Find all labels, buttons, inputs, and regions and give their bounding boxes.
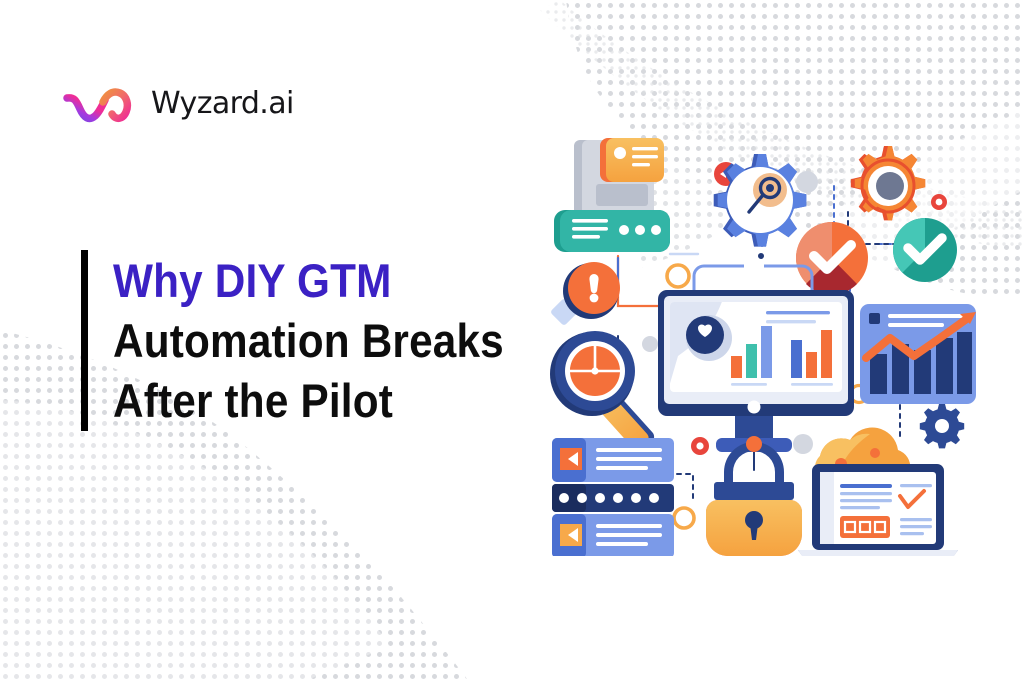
check-circle-teal: [893, 218, 957, 282]
teal-list-bar: [554, 210, 670, 252]
gtm-automation-illustration: [548, 126, 980, 556]
monitor-dashboard: [658, 266, 854, 452]
orange-notification-card: [600, 138, 664, 182]
headline-line-3: After the Pilot: [113, 371, 504, 431]
magnifier-pie: [550, 331, 657, 454]
brand-logo[interactable]: Wyzard.ai: [62, 80, 294, 128]
server-rack: [552, 438, 674, 556]
illustration-svg: [548, 126, 980, 556]
analytics-card: [860, 304, 976, 404]
headline-accent-rule: [81, 250, 88, 431]
headline-line-1: Why DIY GTM: [113, 251, 504, 311]
blue-gear-search: [714, 154, 807, 247]
check-circle-orange: [796, 222, 868, 295]
headline-lines: Why DIY GTM Automation Breaks After the …: [113, 250, 547, 431]
headline-line-2: Automation Breaks: [113, 311, 504, 371]
wyzard-wave-mark-icon: [62, 80, 142, 128]
small-gear: [920, 404, 964, 448]
alert-badge: [563, 262, 620, 319]
orange-gear: [851, 146, 925, 220]
poster-canvas: Wyzard.ai Why DIY GTM Automation Breaks …: [0, 0, 1024, 683]
brand-logo-text: Wyzard.ai: [151, 89, 294, 119]
laptop-cloud: [798, 427, 958, 556]
headline-block: Why DIY GTM Automation Breaks After the …: [81, 250, 547, 431]
